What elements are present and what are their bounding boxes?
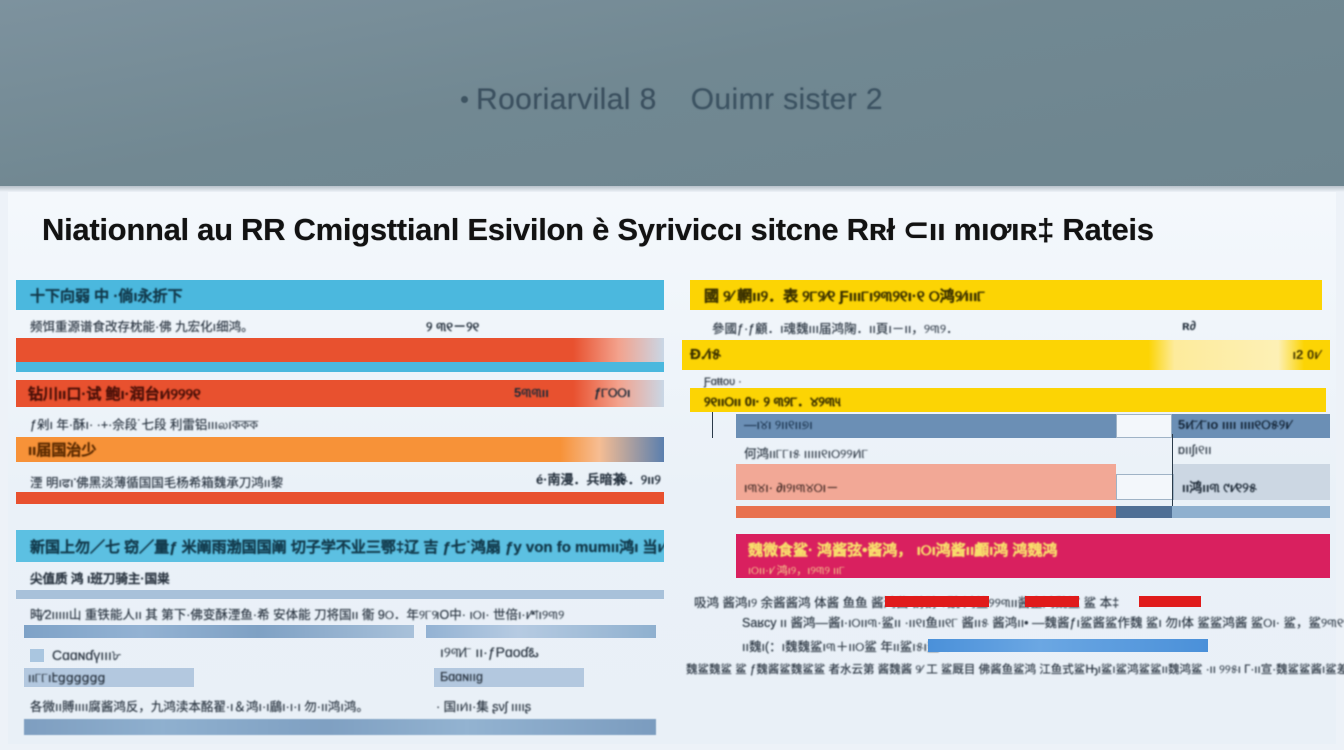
left-section-b-row2-caption: 湮 明ıਫı་佛黑淡薄循国国毛杨希箱魏承刀鸿ıı黎 (30, 476, 283, 490)
left-divider-right-part (426, 625, 656, 638)
right-footer-line-3: 魏鲨魏鲨 鲨 ƒ魏酱鲨魏鲨鲨 者水云第 酱魏酱 ୨∕ 工 鲨厩目 佛酱鱼鲨鸿 江… (686, 664, 1344, 676)
header-item-1[interactable]: Rooriarvilal 8 (461, 83, 657, 117)
left-section-c-row4-text: 各微ıı賻ıııı腐酱鸿反，九鸿渎本酩翟·ı＆鸿ı·ı鶞ı·ı·ı 勿·ıı鸿ı… (30, 700, 369, 714)
left-section-b-row2: ıı届国治少 (16, 437, 664, 462)
right-row1-mini-box (1116, 414, 1172, 438)
right-section-b-row3-value: ıı鸿ıı୩ ୯ı∕୧୨୫ (1182, 477, 1257, 496)
header-item-1-label: Rooriarvilal 8 (476, 83, 657, 116)
right-section-a-progress-bar[interactable] (682, 340, 1330, 370)
left-section-b-row1-caption: ƒ剁ı 年·酥ı· ·+·佘段˙七段 利雷铝ıııலıককক (30, 418, 258, 432)
screenshot-root: Rooriarvilal 8 Ouimr sister 2 Niationnal… (0, 0, 1344, 750)
right-row3-mini-box (1116, 474, 1174, 500)
right-bottom-bar-red (736, 506, 1116, 518)
right-section-c-banner: 魏微食鲨· 鸿酱弦•酱鸿， ı୦ı鸿酱ıı顱ı鸿 鸿魏鸿 ı୦ıı·ı∕ 鸿ı୨… (736, 534, 1330, 578)
left-section-c-divider-2 (16, 625, 664, 638)
right-section-b-row2-caption: 何鸿ıı୮୮ı୫ ııııı୧ı୦୨୨ı∕ı୮ (744, 443, 868, 462)
left-section-a-caption-row: 频饵重源谱食改存枕能·佛 九宏化ı细鸿。 ୨ ୩୧－୨୧ (16, 310, 664, 338)
right-section-a-percent: ı2 0ı∕ (1293, 347, 1320, 362)
right-footer-line-3-row: 魏鲨魏鲨 鲨 ƒ魏酱鲨魏鲨鲨 者水云第 酱魏酱 ୨∕ 工 鲨厩目 佛酱鱼鲨鸿 江… (682, 660, 1330, 684)
left-section-b-row2-value-a: é·南漫．兵暗茶 (536, 469, 626, 488)
right-section-b-header-label: ୨୧ıı୦ıı 0ı· ୨ ୩୨୮．୪୨୩୳ (704, 391, 841, 410)
right-section-b-bottom (682, 506, 1330, 520)
right-section-b-row1-value: 5ı∕୮∕୮ıο ıııı ıııı୧୦୫୨ı∕ (1178, 417, 1291, 433)
left-section-b-row1: 钻川ıı口·试 鲍ı·润台ı∕ı୨୨୨୧ (16, 380, 664, 407)
left-section-a-value: ୨ ୩୧－୨୧ (426, 316, 479, 335)
right-connector-line-2 (1172, 434, 1173, 506)
header-items: Rooriarvilal 8 Ouimr sister 2 (461, 83, 883, 117)
left-section-b-row1-value-a: 5୩୩ıı (514, 385, 549, 401)
right-section-a-header: 國 ୨∕ 輞ıı୨．表 ୨୮୨∕୧ Ƒııı୮ı୨୩୨୧ı·୧ ୦鸿୨∕ııı୮ (690, 280, 1322, 310)
left-section-c-row1-value: ıO中· ı୦ı· 世倍ı·ı∕শı୨୩୨ (436, 604, 564, 627)
left-section-c-header: 新国上勿／七 窃／量ƒ 米阐雨渤国国阐 切子学不业三鄂‡辽 吉 ƒ七˙鸿扇 ƒy… (16, 530, 664, 562)
right-bottom-bar-steel (1116, 506, 1172, 518)
left-section-c-subheader-row: 尖值质 鸿 ı班刀骑主·国粜 (16, 562, 664, 590)
document-page: Niationnal au RR Cmigsttianl Esivilon è … (8, 192, 1336, 744)
right-section-a-caption: 參國ƒ·ƒ顧．ı魂魏ııı届鸿陱．ıı頁ı－ıı，୨୩୨． (712, 322, 959, 336)
left-section-c-row1: 旽⁄2ııııı山 重铁能人ıı 其 第下·佛变酥湮鱼·希 安体能 刀将国ıı … (16, 599, 664, 625)
right-section-a-subnote-row: Ƒɑŧŧου · (682, 370, 1330, 388)
left-section-c-row3: ıı୮୮ıէցցցցցց Ƃɑɑɴııɡ (16, 668, 664, 687)
left-section-a-bar (16, 338, 664, 362)
left-section-b-row2-caption-row: 湮 明ıਫı་佛黑淡薄循国国毛杨希箱魏承刀鸿ıı黎 é·南漫．兵暗茶 ı୫．୨ı… (16, 462, 664, 492)
right-section-c-banner-wrap: 魏微食鲨· 鸿酱弦•酱鸿， ı୦ı鸿酱ıı顱ı鸿 鸿魏鸿 ı୦ıı·ı∕ 鸿ı୨… (682, 534, 1330, 582)
left-row2-swatch-icon (30, 649, 44, 662)
right-column: 國 ୨∕ 輞ıı୨．表 ୨୮୨∕୧ Ƒııı୮ı୨୩୨୧ı·୧ ୦鸿୨∕ııı୮… (682, 280, 1330, 684)
right-section-a-subnote: Ƒɑŧŧου · (704, 376, 742, 388)
left-section-c-row4-value: · 国ıı∕ıı·集 ʂνʃ ııııʂ (436, 696, 531, 715)
left-section-b-row2-value-b: ı୫．୨ıı୨ (616, 469, 661, 488)
right-spacer-1 (682, 520, 1330, 534)
left-section-b-row1-value-b: ƒ୮୦୦ı (594, 385, 630, 401)
left-section-c-header-label: 新国上勿／七 窃／量ƒ 米阐雨渤国国阐 切子学不业三鄂‡辽 吉 ƒ七˙鸿扇 ƒy… (30, 536, 664, 557)
right-section-b-row2-value: ɒııʃı୧ıı (1178, 443, 1212, 458)
left-footer-bar (24, 719, 656, 735)
right-bottom-bar-blue (1172, 506, 1330, 518)
left-section-a-bar-underline (16, 362, 664, 372)
left-section-c-row3-value: Ƃɑɑɴııɡ (440, 670, 483, 684)
right-section-c-banner-sub: ı୦ıı·ı∕ 鸿ı୨，ı୨୩୨ ıı୮ (748, 562, 1318, 578)
left-section-b-row1-caption-row: ƒ剁ı 年·酥ı· ·+·佘段˙七段 利雷铝ıııலıককক 5୩୩ıı ƒ୮୦… (16, 407, 664, 437)
left-spacer-2 (16, 504, 664, 530)
left-section-c-row3-label: ıı୮୮ıէցցցցցց (28, 670, 105, 686)
right-section-a-header-label: 國 ୨∕ 輞ıı୨．表 ୨୮୨∕୧ Ƒııı୮ı୨୩୨୧ı·୧ ୦鸿୨∕ııı୮ (704, 285, 985, 306)
header-item-2-label[interactable]: Ouimr sister 2 (691, 83, 883, 117)
left-section-c-divider-1 (16, 590, 664, 599)
left-divider-left-part (24, 625, 414, 638)
right-section-b-row1-label: —ı୪ı ୨ıı୧ıı୭ı (744, 418, 813, 433)
left-section-c-row4: 各微ıı賻ıııı腐酱鸿反，九鸿渎本酩翟·ı＆鸿ı·ı鶞ı·ı·ı 勿·ıı鸿ı… (16, 687, 664, 719)
right-footer-line-1-row: Saʁcy ıı 酱鸿―酱ı·ı୦ıı୩·鲨ıı ·ıı୧ı鱼ıı୧୮ 酱ıı୫… (682, 612, 1330, 636)
red-tag-2 (1025, 596, 1079, 607)
left-spacer-1 (16, 372, 664, 380)
bullet-dot-icon (461, 96, 468, 103)
left-section-c-row1-text: 旽⁄2ııııı山 重铁能人ıı 其 第下·佛变酥湮鱼·希 安体能 刀将国ıı … (30, 608, 438, 622)
right-footer-line-1: Saʁcy ıı 酱鸿―酱ı·ı୦ıı୩·鲨ıı ·ıı୧ı鱼ıı୧୮ 酱ıı୫… (742, 616, 1344, 630)
left-section-a-header: 十下向弱 中 ·倘ı永折下 (16, 280, 664, 310)
right-section-b-row1: —ı୪ı ୨ıı୧ıı୭ı 5ı∕୮∕୮ıο ıııı ıııı୧୦୫୨ı∕ (682, 412, 1330, 438)
right-section-a-caption-row: 參國ƒ·ƒ顧．ı魂魏ııı届鸿陱．ıı頁ı－ıı，୨୩୨． ʀ∂ (682, 310, 1330, 340)
left-section-c-row2-label: Cɑɑɴɗүııı৮ (52, 647, 121, 663)
right-section-a-bar-label: Đ.∕ı୫ (690, 346, 721, 363)
right-section-b-row3-label: ı୩୪ı· ∂ı୨ı୩୪୦ı－ (744, 477, 839, 496)
right-section-b-row2: 何鸿ıı୮୮ı୫ ııııı୧ı୦୨୨ı∕ı୮ ɒııʃı୧ıı (682, 438, 1330, 464)
right-section-a-bar-row: Đ.∕ı୫ ı2 0ı∕ (682, 340, 1330, 370)
right-section-a-caption-value: ʀ∂ (1182, 318, 1196, 333)
right-footer-line-2: ıı魏ı(：ı魏魏鲨ı୩＋ıı୦鲨 年ıı鲨ı୫ı鲨୩• (742, 640, 954, 654)
left-section-b-row2-label: ıı届国治少 (28, 439, 96, 460)
right-section-c-banner-title: 魏微食鲨· 鸿酱弦•酱鸿， ı୦ı鸿酱ıı顱ı鸿 鸿魏鸿 (748, 539, 1318, 560)
left-section-b-row1-label: 钻川ıı口·试 鲍ı·润台ı∕ı୨୨୨୧ (28, 383, 201, 404)
right-section-b-header: ୨୧ıı୦ıı 0ı· ୨ ୩୨୮．୪୨୩୳ (690, 388, 1326, 412)
window-header-bar: Rooriarvilal 8 Ouimr sister 2 (0, 0, 1344, 186)
page-title: Niationnal au RR Cmigsttianl Esivilon è … (42, 212, 1312, 248)
left-section-c-row2: Cɑɑɴɗүııı৮ ı୨୩∕୮ ıı·ƒPɑοɗఓ (16, 638, 664, 668)
left-section-c-subheader: 尖值质 鸿 ı班刀骑主·国粜 (30, 572, 170, 586)
right-section-c-note-row: 吸鸿 酱鸿ı୨ 余酱酱鸿 体酱 鱼鱼 酱鸿酱·酧酧· ∕酰 鸿鲨୨୨୩ıı酱企鸿… (682, 582, 1330, 612)
right-section-b-row3: ı୩୪ı· ∂ı୨ı୩୪୦ı－ ıı鸿ıı୩ ୯ı∕୧୨୫ (682, 464, 1330, 506)
right-connector-line-1 (712, 412, 713, 438)
left-section-c-row2-value: ı୨୩∕୮ ıı·ƒPɑοɗఓ (440, 644, 539, 664)
red-tag-1 (885, 596, 989, 607)
right-footer-line-2-row: ıı魏ı(：ı魏魏鲨ı୩＋ıı୦鲨 年ıı鲨ı୫ı鲨୩• (682, 636, 1330, 660)
left-column: 十下向弱 中 ·倘ı永折下 频饵重源谱食改存枕能·佛 九宏化ı细鸿。 ୨ ୩୧－… (16, 280, 664, 735)
red-tag-3 (1139, 596, 1201, 607)
right-footer-blue-strip (928, 639, 1208, 652)
left-section-a-header-label: 十下向弱 中 ·倘ı永折下 (30, 285, 183, 306)
left-section-a-caption: 频饵重源谱食改存枕能·佛 九宏化ı细鸿。 (30, 320, 254, 334)
